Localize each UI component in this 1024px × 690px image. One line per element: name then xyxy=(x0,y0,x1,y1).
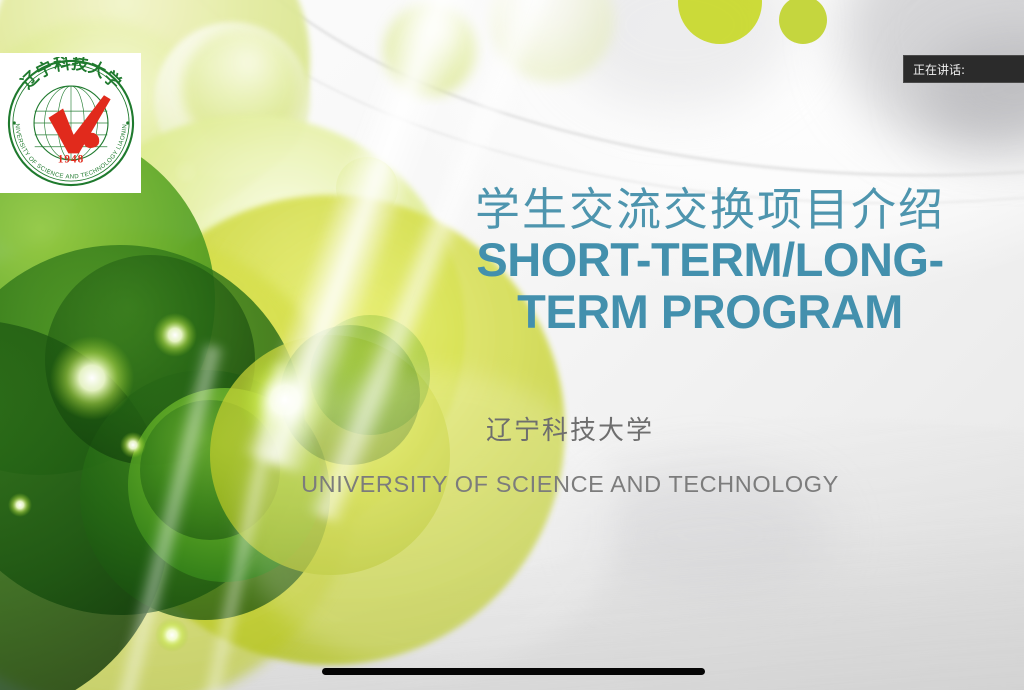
university-logo: 1948 辽宁科技大学 UNIVERSITY OF SCIENCE AND TE… xyxy=(0,53,141,193)
logo-name-cn: 辽宁科技大学 xyxy=(17,57,125,92)
subtitle-english: UNIVERSITY OF SCIENCE AND TECHNOLOGY xyxy=(230,471,910,498)
title-english-line2: TERM PROGRAM xyxy=(420,287,1000,337)
active-speaker-label: 正在讲话: xyxy=(904,61,965,78)
logo-year: 1948 xyxy=(57,154,83,166)
slide-subtitle: 辽宁科技大学 UNIVERSITY OF SCIENCE AND TECHNOL… xyxy=(230,410,910,498)
subtitle-chinese: 辽宁科技大学 xyxy=(230,410,910,447)
svg-text:辽宁科技大学: 辽宁科技大学 xyxy=(17,57,125,92)
active-speaker-overlay[interactable]: 正在讲话: xyxy=(903,55,1024,83)
home-indicator[interactable] xyxy=(322,668,705,675)
logo-emblem: 1948 辽宁科技大学 UNIVERSITY OF SCIENCE AND TE… xyxy=(5,57,137,189)
title-english-line1: SHORT-TERM/LONG- xyxy=(420,235,1000,285)
slide-title: 学生交流交换项目介绍 SHORT-TERM/LONG- TERM PROGRAM xyxy=(420,186,1000,337)
title-chinese: 学生交流交换项目介绍 xyxy=(420,186,1000,233)
presentation-screen: 1948 辽宁科技大学 UNIVERSITY OF SCIENCE AND TE… xyxy=(0,0,1024,690)
